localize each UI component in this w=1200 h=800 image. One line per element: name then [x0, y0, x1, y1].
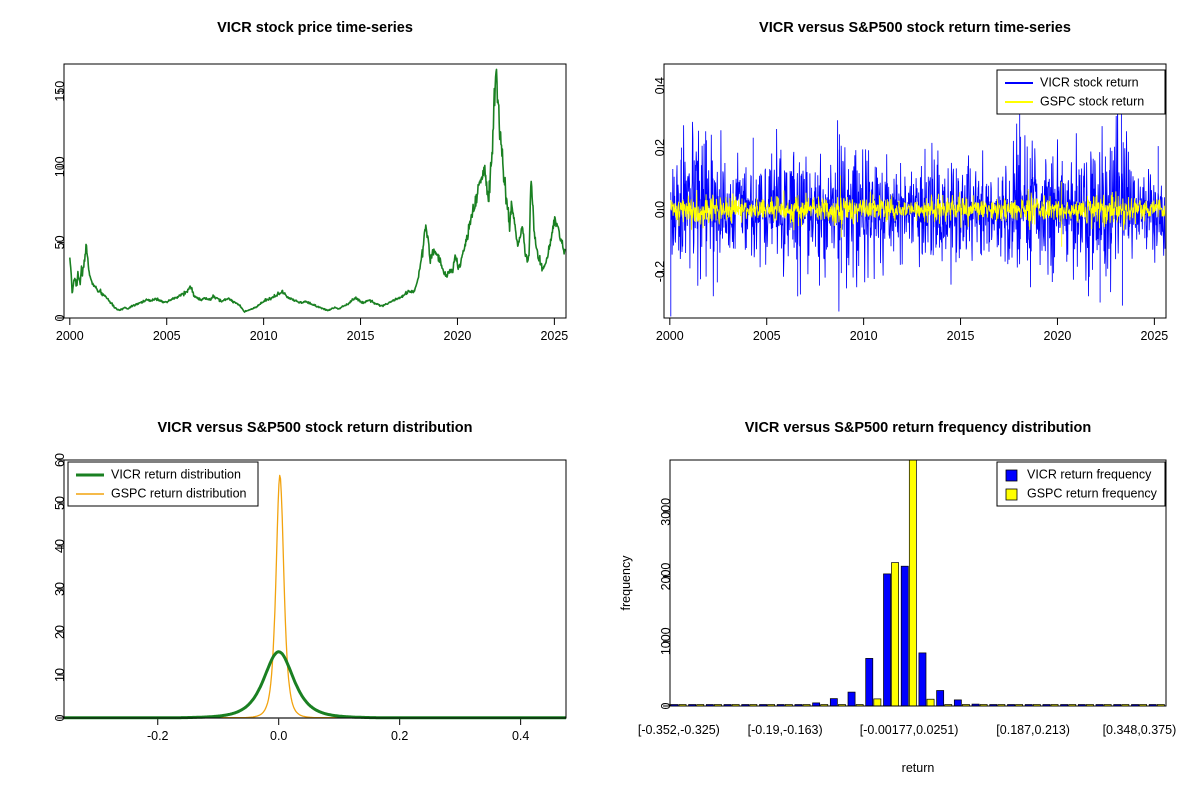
svg-text:2020: 2020 — [444, 329, 472, 343]
price-plot-box — [64, 64, 566, 318]
svg-text:150: 150 — [53, 81, 67, 102]
svg-text:0.4: 0.4 — [512, 729, 529, 743]
svg-text:[-0.352,-0.325): [-0.352,-0.325) — [638, 723, 720, 737]
figure-canvas: VICR stock price time-series 05010015020… — [0, 0, 1200, 800]
svg-text:VICR return frequency: VICR return frequency — [1027, 467, 1152, 481]
return-timeseries-svg: VICR versus S&P500 stock return time-ser… — [600, 0, 1200, 400]
return-dist-series — [64, 475, 566, 718]
bar-vicr — [866, 658, 873, 706]
svg-text:2025: 2025 — [540, 329, 568, 343]
bar-vicr — [919, 653, 926, 706]
svg-text:40: 40 — [53, 539, 67, 553]
panel-return-distribution: VICR versus S&P500 stock return distribu… — [0, 400, 600, 800]
svg-text:GSPC return distribution: GSPC return distribution — [111, 486, 247, 500]
svg-text:10: 10 — [53, 668, 67, 682]
svg-text:2010: 2010 — [850, 329, 878, 343]
panel-title-return-dist: VICR versus S&P500 stock return distribu… — [157, 420, 472, 436]
panel-price-timeseries: VICR stock price time-series 05010015020… — [0, 0, 600, 400]
svg-text:GSPC return frequency: GSPC return frequency — [1027, 486, 1158, 500]
price-timeseries-svg: VICR stock price time-series 05010015020… — [0, 0, 600, 400]
bar-vicr — [848, 692, 855, 706]
svg-text:0.2: 0.2 — [391, 729, 408, 743]
svg-text:3000: 3000 — [659, 498, 673, 526]
svg-text:2005: 2005 — [153, 329, 181, 343]
bar-gspc — [909, 460, 916, 706]
svg-text:VICR stock return: VICR stock return — [1040, 75, 1139, 89]
bar-vicr — [901, 566, 908, 706]
bar-gspc — [892, 563, 899, 706]
price-series — [70, 69, 565, 312]
return-dist-legend[interactable]: VICR return distributionGSPC return dist… — [68, 462, 258, 506]
svg-text:-0.2: -0.2 — [653, 261, 667, 283]
svg-text:50: 50 — [53, 235, 67, 249]
svg-text:2000: 2000 — [56, 329, 84, 343]
svg-text:0.0: 0.0 — [653, 201, 667, 218]
svg-text:20: 20 — [53, 625, 67, 639]
bar-gspc — [874, 699, 881, 706]
svg-text:GSPC stock return: GSPC stock return — [1040, 94, 1144, 108]
svg-text:0.0: 0.0 — [270, 729, 287, 743]
svg-text:0.4: 0.4 — [653, 77, 667, 94]
bar-vicr — [830, 699, 837, 706]
return-freq-legend[interactable]: VICR return frequencyGSPC return frequen… — [997, 462, 1165, 506]
return-freq-xtick-labels: [-0.352,-0.325)[-0.19,-0.163)[-0.00177,0… — [638, 723, 1176, 737]
svg-text:30: 30 — [53, 582, 67, 596]
svg-text:1000: 1000 — [659, 627, 673, 655]
svg-text:2025: 2025 — [1140, 329, 1168, 343]
svg-text:50: 50 — [53, 496, 67, 510]
panel-title-return-freq: VICR versus S&P500 return frequency dist… — [745, 420, 1091, 436]
bar-gspc — [927, 699, 934, 706]
panel-return-frequency: VICR versus S&P500 return frequency dist… — [600, 400, 1200, 800]
svg-text:2020: 2020 — [1044, 329, 1072, 343]
panel-title-price: VICR stock price time-series — [217, 20, 413, 36]
svg-text:[0.187,0.213): [0.187,0.213) — [996, 723, 1070, 737]
svg-text:0.2: 0.2 — [653, 139, 667, 156]
return-ts-legend[interactable]: VICR stock returnGSPC stock return — [997, 70, 1165, 114]
bar-vicr — [954, 700, 961, 706]
svg-text:100: 100 — [53, 156, 67, 177]
svg-text:2000: 2000 — [659, 563, 673, 591]
return-ts-series — [671, 82, 1165, 317]
return-freq-axes: 0100020003000 — [659, 498, 673, 710]
return-distribution-svg: VICR versus S&P500 stock return distribu… — [0, 400, 600, 800]
return-freq-ylabel: frequency — [619, 555, 633, 611]
svg-text:[-0.19,-0.163): [-0.19,-0.163) — [748, 723, 823, 737]
return-frequency-svg: VICR versus S&P500 return frequency dist… — [600, 400, 1200, 800]
svg-text:-0.2: -0.2 — [147, 729, 169, 743]
panel-return-timeseries: VICR versus S&P500 stock return time-ser… — [600, 0, 1200, 400]
bar-vicr — [884, 574, 891, 706]
panel-title-return-ts: VICR versus S&P500 stock return time-ser… — [759, 20, 1071, 36]
svg-text:2010: 2010 — [250, 329, 278, 343]
svg-text:2000: 2000 — [656, 329, 684, 343]
svg-text:[0.348,0.375): [0.348,0.375) — [1103, 723, 1177, 737]
svg-text:[-0.00177,0.0251): [-0.00177,0.0251) — [860, 723, 959, 737]
return-freq-xlabel: return — [902, 761, 935, 775]
svg-text:2015: 2015 — [947, 329, 975, 343]
svg-text:VICR return distribution: VICR return distribution — [111, 467, 241, 481]
bar-vicr — [937, 691, 944, 707]
svg-text:2005: 2005 — [753, 329, 781, 343]
svg-text:2015: 2015 — [347, 329, 375, 343]
